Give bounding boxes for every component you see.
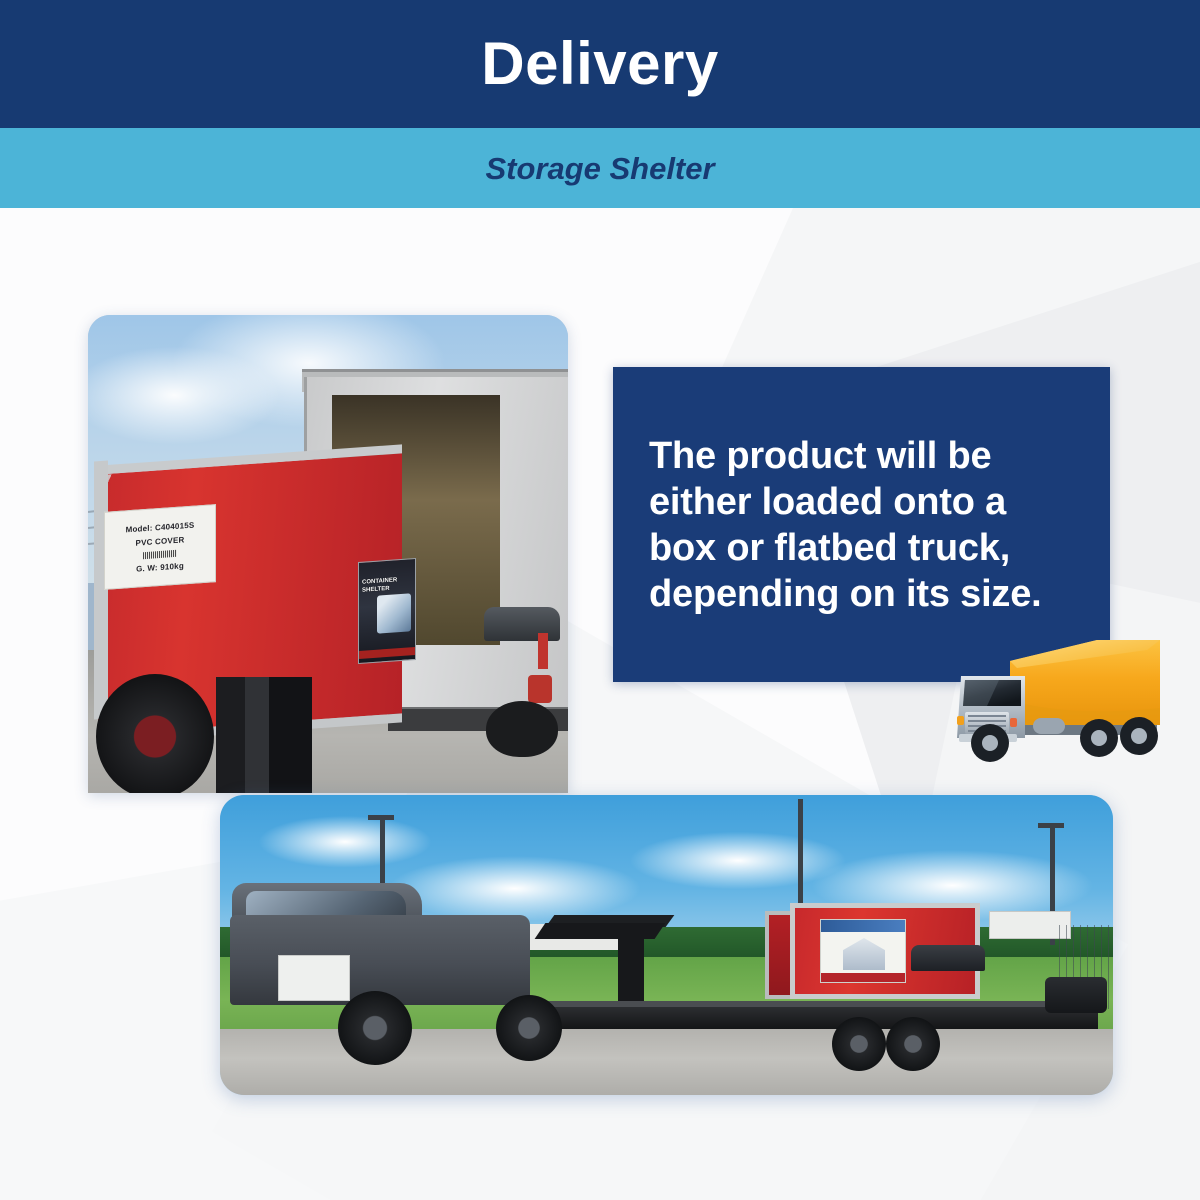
photo2-poster-footer-band — [821, 973, 905, 982]
photo1-forklift-tire — [96, 674, 214, 793]
poster-title-line-1: CONTAINER — [362, 577, 397, 586]
page-title: Delivery — [481, 34, 719, 94]
photo1-taillight — [528, 675, 552, 703]
photo1-red-post — [538, 633, 548, 669]
photo1-forklift-mast — [216, 677, 312, 793]
photo2-light-pole-2-head — [1038, 823, 1064, 828]
photo2-pickup-front-wheel — [496, 995, 562, 1061]
photo2-trailer-wheel-2 — [886, 1017, 940, 1071]
photo2-rolled-tarp — [1045, 977, 1107, 1013]
photo2-gooseneck-arm — [535, 923, 666, 939]
crate-container-shelter-poster: CONTAINER SHELTER — [358, 558, 416, 664]
callout-text: The product will be either loaded onto a… — [649, 433, 1082, 617]
photo2-poster-shelter-graphic — [843, 938, 885, 970]
poster-footer-strip — [359, 647, 415, 659]
poster-product-image — [377, 593, 411, 633]
crate-label-barcode — [143, 549, 177, 558]
photo1-truck-tire — [486, 701, 558, 757]
delivery-truck-icon — [947, 630, 1162, 765]
subheader-band: Storage Shelter — [0, 128, 1200, 208]
callout-inner: The product will be either loaded onto a… — [613, 433, 1110, 617]
photo1-crate-corner-edge — [94, 461, 108, 720]
photo2-pickup-door-sign — [278, 955, 350, 1001]
photo2-trailer-deck — [538, 1007, 1098, 1029]
crate-label-model: Model: C404015S — [126, 520, 195, 534]
photo2-light-pole-1-head — [368, 815, 394, 820]
crate-shipping-label: Model: C404015S PVC COVER G. W: 910kg — [104, 504, 216, 590]
crate-label-cover: PVC COVER — [136, 535, 185, 547]
photo-box-truck-loading: Model: C404015S PVC COVER G. W: 910kg CO… — [88, 315, 568, 793]
photo2-utility-pole — [798, 799, 803, 915]
photo1-background-vehicle — [484, 607, 560, 641]
photo2-poster-header-band — [821, 920, 905, 932]
poster-title-line-2: SHELTER — [362, 586, 390, 595]
photo-flatbed-trailer — [220, 795, 1113, 1095]
page-subtitle: Storage Shelter — [485, 153, 714, 184]
photo2-pickup-rear-wheel — [338, 991, 412, 1065]
photo2-background-pickup — [911, 945, 985, 971]
crate-label-weight: G. W: 910kg — [136, 561, 184, 573]
photo2-crate-poster — [820, 919, 906, 983]
photo2-trailer-wheel-1 — [832, 1017, 886, 1071]
header-band: Delivery — [0, 0, 1200, 128]
delivery-slide: Delivery Storage Shelter Model: C404015S… — [0, 0, 1200, 1200]
